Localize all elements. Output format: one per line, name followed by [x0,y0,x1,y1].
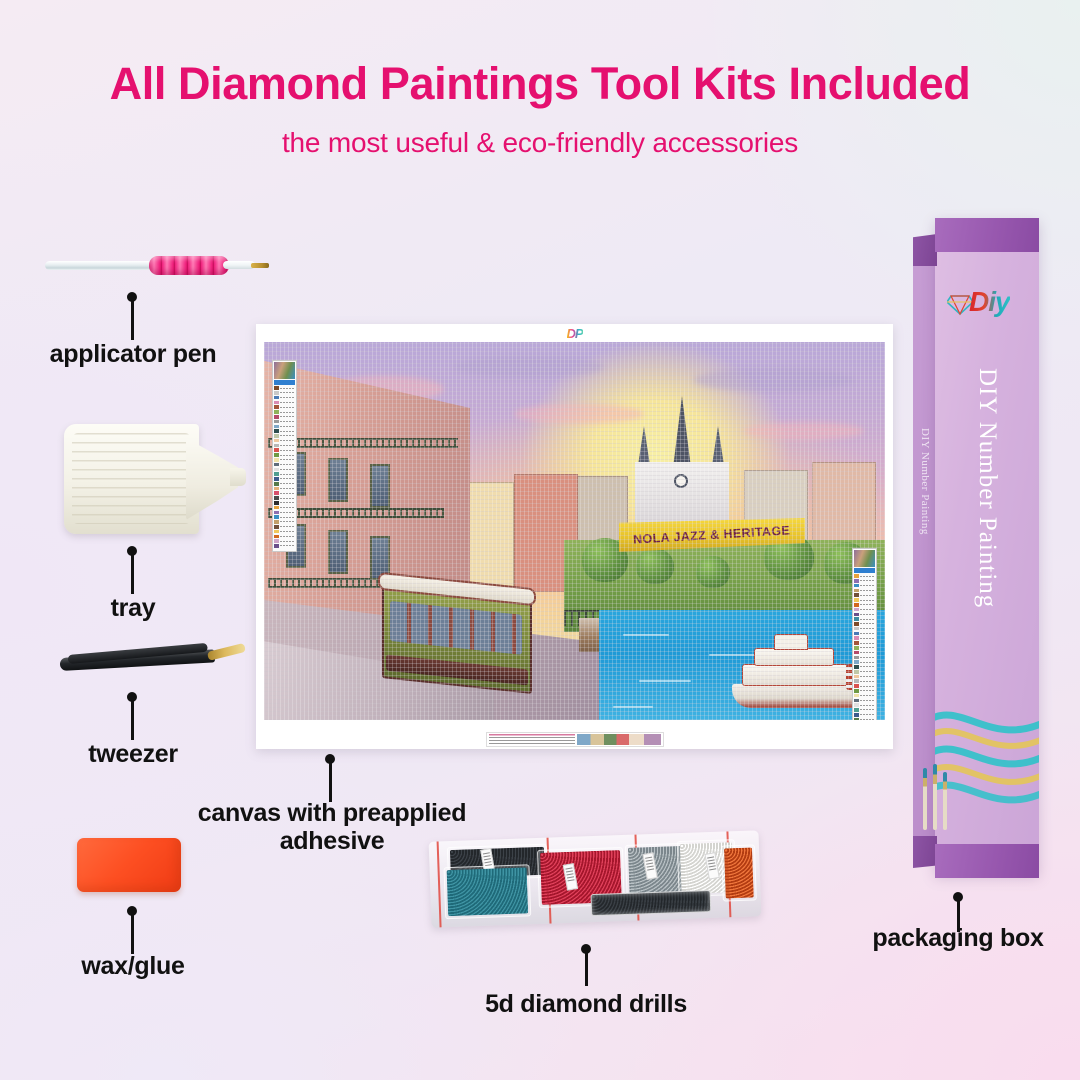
canvas-artwork: NOLA JAZZ & HERITAGE [264,342,885,720]
label-applicator-pen: applicator pen [0,340,266,368]
box-front-text-wrap: DIY Number Painting [935,368,1039,668]
box-logo: Diy [947,282,1031,328]
artwork-riverboat [732,624,862,708]
tweezer-gold-tip [207,643,246,661]
box-top-cap-side [913,234,937,266]
box-logo-text: Diy [969,286,1010,318]
header: All Diamond Paintings Tool Kits Included… [0,0,1080,159]
tray-image [64,424,246,534]
color-chart-legend-right [852,548,877,720]
drill-bag [721,844,757,901]
wax-glue-block [77,838,181,892]
artwork-streetcar [382,570,532,694]
label-tray: tray [0,594,266,622]
artwork-building [812,462,876,552]
drill-bag [443,864,531,919]
pen-tip [251,263,269,268]
artwork-banner-text: NOLA JAZZ & HERITAGE [633,523,791,546]
infographic-page: All Diamond Paintings Tool Kits Included… [0,0,1080,1080]
canvas-instruction-strip [486,732,664,747]
canvas-logo: DP [566,326,582,341]
drill-bag [591,890,712,916]
pen-grip [149,256,229,275]
page-title: All Diamond Paintings Tool Kits Included [0,58,1080,110]
box-side-text: DIY Number Painting [919,428,931,535]
applicator-pen-image [45,252,271,278]
box-brush-decoration [919,760,959,830]
tray-body [64,424,199,534]
label-tweezer: tweezer [0,740,266,768]
box-bottom-cap-side [913,836,937,868]
label-packaging-box: packaging box [828,924,1080,952]
box-side-text-wrap: DIY Number Painting [913,428,937,678]
drill-bag-outer-sleeve [429,830,762,927]
box-top-cap [935,218,1039,252]
wax-glue-image [77,838,181,892]
tweezer-image [60,652,245,676]
box-front-text: DIY Number Painting [973,368,1001,608]
label-diamond-drills: 5d diamond drills [436,990,736,1018]
tray-nub [230,468,246,486]
label-wax-glue: wax/glue [0,952,266,980]
canvas-image: DP [256,324,893,749]
page-subtitle: the most useful & eco-friendly accessori… [0,127,1080,159]
color-chart-legend-left [272,360,297,552]
packaging-box-image: Diy DIY Number Painting DIY Number Paint… [913,218,1039,878]
diamond-drill-bags-image [430,836,760,922]
box-bottom-cap [935,844,1039,878]
